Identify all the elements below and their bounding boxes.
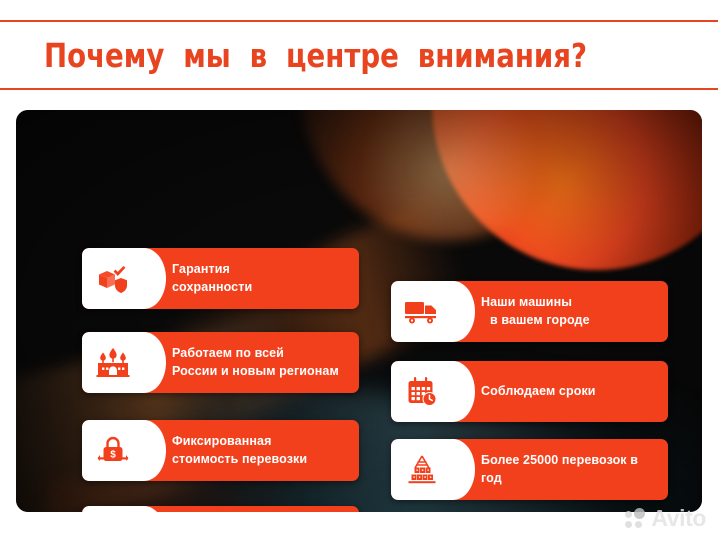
avito-logo-icon [625, 508, 647, 530]
avito-wordmark: Avito [651, 505, 706, 532]
slide-root: Почему мы в центре внимания? [0, 0, 718, 540]
avito-watermark: Avito [625, 505, 706, 532]
feature-card-local-trucks[interactable]: Наши машины в вашем городе [391, 281, 668, 342]
icon-container [82, 506, 144, 512]
header-rule-bottom [0, 88, 718, 90]
feature-card-deadlines[interactable]: Соблюдаем сроки [391, 361, 668, 422]
card-line-2: стоимость перевозки [172, 451, 349, 469]
feature-card-coverage[interactable]: Работаем по всей России и новым регионам [82, 332, 359, 393]
feature-card-insurance[interactable]: 100% Страхование каждого груза [82, 506, 359, 512]
card-line-1: Гарантия [172, 261, 349, 279]
card-line-1: Фиксированная [172, 433, 349, 451]
feature-card-guarantee[interactable]: Гарантия сохранности [82, 248, 359, 309]
card-line-2: России и новым регионам [172, 363, 349, 381]
card-line-2: год [481, 470, 658, 488]
card-text: Соблюдаем сроки [453, 361, 668, 422]
icon-container: $ [82, 420, 144, 481]
card-text: Фиксированная стоимость перевозки [144, 420, 359, 481]
card-text: Наши машины в вашем городе [453, 281, 668, 342]
card-line-1: Соблюдаем сроки [481, 383, 658, 401]
feature-card-volume[interactable]: Более 25000 перевозок в год [391, 439, 668, 500]
card-text: Гарантия сохранности [144, 248, 359, 309]
calendar-clock-icon [406, 376, 438, 408]
kremlin-cathedral-icon [95, 348, 131, 378]
header-rule-top [0, 20, 718, 22]
feature-card-fixed-price[interactable]: $ Фиксированная стоимость перевозки [82, 420, 359, 481]
icon-container [391, 439, 453, 500]
features-panel: Гарантия сохранности [16, 110, 702, 512]
card-line-2: в вашем городе [481, 312, 658, 330]
lock-dollar-icon: $ [97, 435, 129, 467]
card-text: 100% Страхование каждого груза [144, 506, 359, 512]
card-line-1: Более 25000 перевозок в [481, 452, 658, 470]
crane-boxes-icon [405, 455, 439, 485]
icon-container [391, 361, 453, 422]
card-line-1: Работаем по всей [172, 345, 349, 363]
box-check-shield-icon [96, 264, 130, 294]
card-text: Работаем по всей России и новым регионам [144, 332, 359, 393]
card-line-2: сохранности [172, 279, 349, 297]
card-line-1: Наши машины [481, 294, 658, 312]
icon-container [391, 281, 453, 342]
card-text: Более 25000 перевозок в год [453, 439, 668, 500]
truck-icon [404, 299, 440, 325]
page-title: Почему мы в центре внимания? [44, 26, 639, 84]
svg-text:$: $ [110, 449, 116, 460]
icon-container [82, 248, 144, 309]
icon-container [82, 332, 144, 393]
